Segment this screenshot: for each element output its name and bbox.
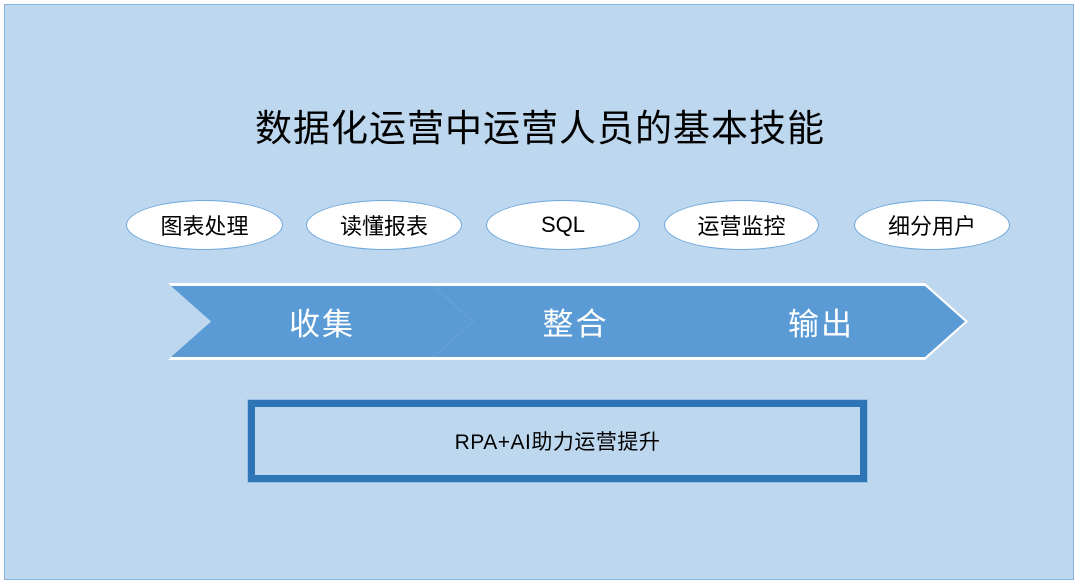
skill-ellipse-label: 运营监控 <box>697 209 785 241</box>
skill-ellipse-label: SQL <box>541 212 585 238</box>
skill-ellipse-3[interactable]: SQL <box>486 200 640 250</box>
process-step-label: 整合 <box>543 299 609 344</box>
skill-ellipse-5[interactable]: 细分用户 <box>854 200 1010 250</box>
process-step-3[interactable]: 输出 <box>677 286 965 357</box>
process-step-2[interactable]: 整合 <box>433 286 718 357</box>
skill-ellipse-4[interactable]: 运营监控 <box>664 200 819 250</box>
process-step-1[interactable]: 收集 <box>171 286 473 357</box>
page-title: 数据化运营中运营人员的基本技能 <box>5 106 1074 152</box>
callout-label: RPA+AI助力运营提升 <box>455 426 661 456</box>
skill-ellipse-2[interactable]: 读懂报表 <box>306 200 462 250</box>
process-step-label: 收集 <box>289 299 355 344</box>
skill-ellipse-label: 读懂报表 <box>340 209 428 241</box>
slide-canvas: 数据化运营中运营人员的基本技能 图表处理 读懂报表 SQL 运营监控 细分用户 … <box>4 4 1074 580</box>
process-step-label: 输出 <box>788 299 854 344</box>
skill-ellipse-label: 细分用户 <box>888 209 976 241</box>
skill-ellipse-label: 图表处理 <box>160 209 248 241</box>
process-chevron-band: 收集 整合 输出 <box>171 286 965 357</box>
skill-ellipse-1[interactable]: 图表处理 <box>126 200 283 250</box>
callout-box[interactable]: RPA+AI助力运营提升 <box>248 400 867 482</box>
skill-ellipse-row: 图表处理 读懂报表 SQL 运营监控 细分用户 <box>5 200 1074 256</box>
